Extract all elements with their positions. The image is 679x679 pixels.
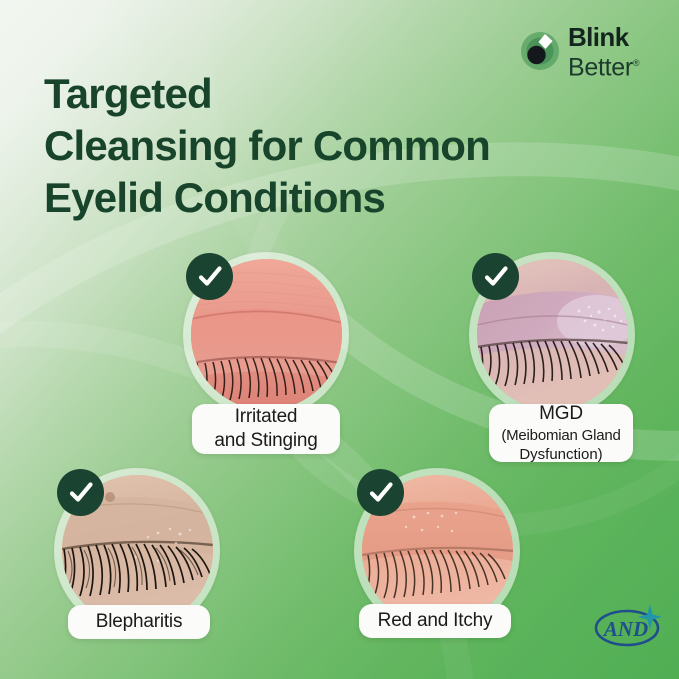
label-line-1: MGD xyxy=(539,402,583,426)
label-line-2: (Meibomian Gland xyxy=(501,426,620,445)
page-title-line-2: Cleansing for Common xyxy=(44,120,644,172)
condition-label-mgd: MGD (Meibomian Gland Dysfunction) xyxy=(489,404,633,462)
brand-line-1: Blink xyxy=(568,24,664,50)
label-line-1: Blepharitis xyxy=(96,610,183,634)
check-icon xyxy=(482,263,510,291)
condition-label-irritated: Irritated and Stinging xyxy=(192,404,340,454)
check-badge-irritated xyxy=(186,253,233,300)
check-icon xyxy=(196,263,224,291)
check-icon xyxy=(367,479,395,507)
condition-label-blepharitis: Blepharitis xyxy=(68,605,210,639)
label-line-1: Red and Itchy xyxy=(378,609,493,633)
registered-mark: ® xyxy=(633,58,639,68)
label-line-2: and Stinging xyxy=(214,429,317,453)
page-title-line-3: Eyelid Conditions xyxy=(44,172,644,224)
label-line-3: Dysfunction) xyxy=(519,445,602,464)
poster-canvas: Blink Better® Targeted Cleansing for Com… xyxy=(0,0,679,679)
check-icon xyxy=(67,479,95,507)
page-title: Targeted Cleansing for Common Eyelid Con… xyxy=(44,68,644,224)
condition-label-red-itchy: Red and Itchy xyxy=(359,604,511,638)
check-badge-blepharitis xyxy=(57,469,104,516)
page-title-line-1: Targeted xyxy=(44,68,644,120)
check-badge-red-itchy xyxy=(357,469,404,516)
and-logo-text: AND xyxy=(602,617,648,641)
and-logo: AND xyxy=(592,598,666,652)
label-line-1: Irritated xyxy=(235,405,298,429)
check-badge-mgd xyxy=(472,253,519,300)
